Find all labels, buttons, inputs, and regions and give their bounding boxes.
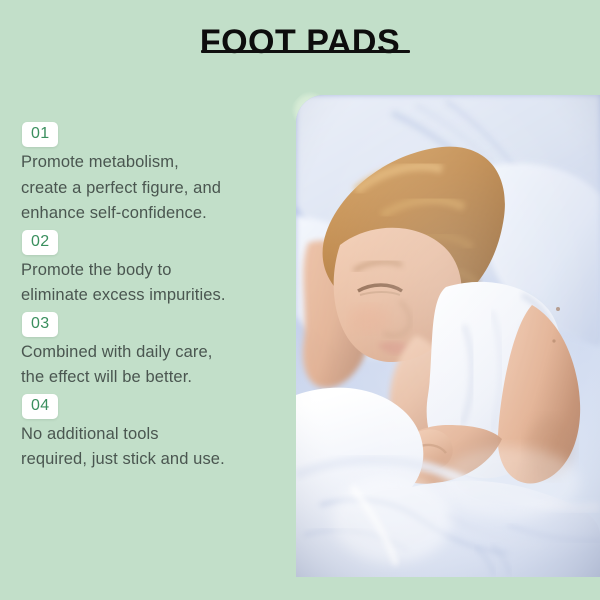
feature-item-03: 03 Combined with daily care, the effect … <box>21 312 283 391</box>
feature-text-02: Promote the body to eliminate excess imp… <box>21 258 283 309</box>
feature-item-01: 01 Promote metabolism, create a perfect … <box>21 122 283 227</box>
feature-number-badge-03: 03 <box>22 312 58 337</box>
feature-list: 01 Promote metabolism, create a perfect … <box>21 122 283 476</box>
feature-item-02: 02 Promote the body to eliminate excess … <box>21 230 283 309</box>
feature-item-04: 04 No additional tools required, just st… <box>21 394 283 473</box>
feature-number-badge-02: 02 <box>22 230 58 255</box>
feature-text-01: Promote metabolism, create a perfect fig… <box>21 150 283 227</box>
header: FOOT PADS <box>0 22 600 62</box>
title-underline-rule <box>201 50 410 53</box>
poster-canvas: FOOT PADS 01 Promote metabolism, create … <box>0 0 600 600</box>
feature-text-03: Combined with daily care, the effect wil… <box>21 340 283 391</box>
sleeping-woman-photo <box>296 95 600 577</box>
feature-number-badge-04: 04 <box>22 394 58 419</box>
feature-text-04: No additional tools required, just stick… <box>21 422 283 473</box>
feature-number-badge-01: 01 <box>22 122 58 147</box>
page-title: FOOT PADS <box>0 22 600 62</box>
